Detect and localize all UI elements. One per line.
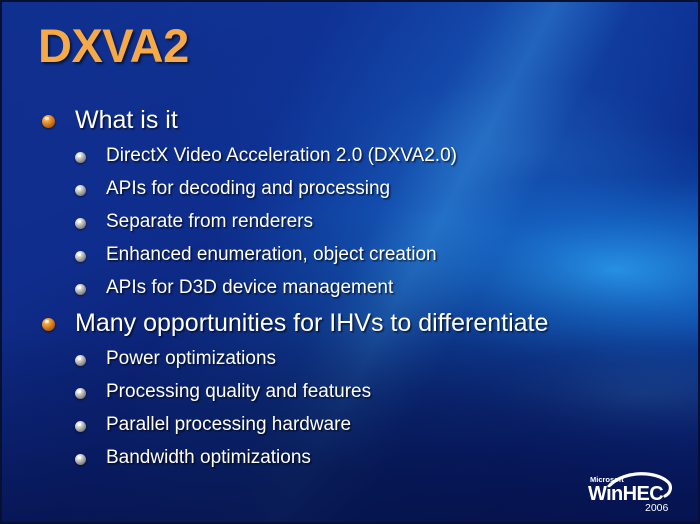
- bullet-text: Bandwidth optimizations: [106, 446, 311, 470]
- bullet-item-level2: Parallel processing hardware: [2, 413, 642, 446]
- silver-sphere-bullet-icon: [75, 152, 86, 163]
- bullet-item-level2: APIs for D3D device management: [2, 276, 642, 309]
- bullet-text: Many opportunities for IHVs to different…: [75, 309, 548, 337]
- bullet-item-level2: Separate from renderers: [2, 210, 642, 243]
- bullet-text: Enhanced enumeration, object creation: [106, 243, 437, 267]
- bullet-text: Processing quality and features: [106, 380, 371, 404]
- bullet-item-level1: Many opportunities for IHVs to different…: [2, 309, 642, 347]
- silver-sphere-bullet-icon: [75, 388, 86, 399]
- bullet-item-level2: APIs for decoding and processing: [2, 177, 642, 210]
- silver-sphere-bullet-icon: [75, 454, 86, 465]
- orange-sphere-bullet-icon: [42, 115, 55, 128]
- bullet-text: Parallel processing hardware: [106, 413, 351, 437]
- silver-sphere-bullet-icon: [75, 355, 86, 366]
- bullet-text: APIs for D3D device management: [106, 276, 393, 300]
- presentation-slide: DXVA2 What is it DirectX Video Accelerat…: [0, 0, 700, 524]
- silver-sphere-bullet-icon: [75, 421, 86, 432]
- bullet-text: Separate from renderers: [106, 210, 313, 234]
- slide-title: DXVA2: [38, 18, 189, 73]
- bullet-text: What is it: [75, 106, 178, 134]
- bullet-item-level2: Enhanced enumeration, object creation: [2, 243, 642, 276]
- bullet-item-level2: Power optimizations: [2, 347, 642, 380]
- silver-sphere-bullet-icon: [75, 185, 86, 196]
- orange-sphere-bullet-icon: [42, 318, 55, 331]
- bullet-item-level2: Bandwidth optimizations: [2, 446, 642, 479]
- winhec-logo: Microsoft WinHEC 2006: [582, 468, 686, 514]
- bullet-item-level2: DirectX Video Acceleration 2.0 (DXVA2.0): [2, 144, 642, 177]
- logo-year-text: 2006: [645, 502, 669, 514]
- silver-sphere-bullet-icon: [75, 284, 86, 295]
- silver-sphere-bullet-icon: [75, 251, 86, 262]
- bullet-item-level2: Processing quality and features: [2, 380, 642, 413]
- slide-body: What is it DirectX Video Acceleration 2.…: [2, 106, 642, 479]
- bullet-item-level1: What is it: [2, 106, 642, 144]
- winhec-logo-graphic: Microsoft WinHEC 2006: [582, 468, 686, 514]
- bullet-text: Power optimizations: [106, 347, 276, 371]
- silver-sphere-bullet-icon: [75, 218, 86, 229]
- bullet-text: DirectX Video Acceleration 2.0 (DXVA2.0): [106, 144, 457, 168]
- bullet-text: APIs for decoding and processing: [106, 177, 390, 201]
